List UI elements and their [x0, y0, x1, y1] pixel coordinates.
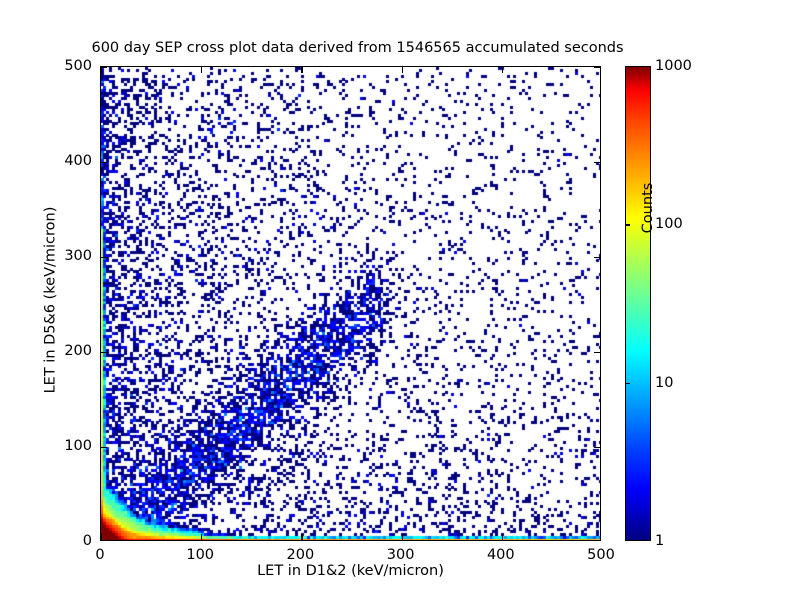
plot-area [100, 66, 601, 541]
y-tick-mark [101, 162, 107, 163]
y-tick-mark [594, 352, 600, 353]
x-tick-mark [101, 534, 102, 540]
x-tick-mark [502, 534, 503, 540]
x-tick-mark [201, 534, 202, 540]
y-tick-mark [101, 257, 107, 258]
x-tick-label: 0 [95, 547, 104, 563]
colorbar-tick-label: 1000 [655, 58, 692, 74]
chart-title-line-1: 600 day SEP cross plot data derived from… [0, 40, 715, 57]
y-tick-mark [594, 257, 600, 258]
x-tick-mark [201, 67, 202, 73]
y-tick-mark [594, 447, 600, 448]
y-tick-mark [594, 162, 600, 163]
chart-figure: 600 day SEP cross plot data derived from… [0, 0, 800, 600]
x-tick-mark [301, 67, 302, 73]
y-tick-mark [101, 67, 107, 68]
colorbar-tick-label: 1 [655, 533, 664, 549]
x-tick-mark [502, 67, 503, 73]
y-axis-label: LET in D5&6 (keV/micron) [43, 63, 59, 538]
colorbar-tick-label: 100 [655, 216, 683, 232]
x-tick-mark [402, 534, 403, 540]
colorbar-tick-mark [625, 224, 630, 225]
scatter-density-plot [101, 67, 601, 541]
x-tick-label: 200 [287, 547, 315, 563]
x-tick-label: 300 [387, 547, 415, 563]
x-tick-mark [301, 534, 302, 540]
x-tick-label: 400 [487, 547, 515, 563]
y-tick-mark [101, 447, 107, 448]
colorbar-tick-mark [625, 383, 630, 384]
x-axis-label: LET in D1&2 (keV/micron) [100, 563, 601, 579]
y-tick-mark [101, 352, 107, 353]
colorbar-label: Counts [640, 108, 656, 308]
x-tick-label: 500 [587, 547, 615, 563]
x-tick-label: 100 [186, 547, 214, 563]
colorbar-tick-label: 10 [655, 375, 673, 391]
y-tick-mark [594, 67, 600, 68]
x-tick-mark [402, 67, 403, 73]
